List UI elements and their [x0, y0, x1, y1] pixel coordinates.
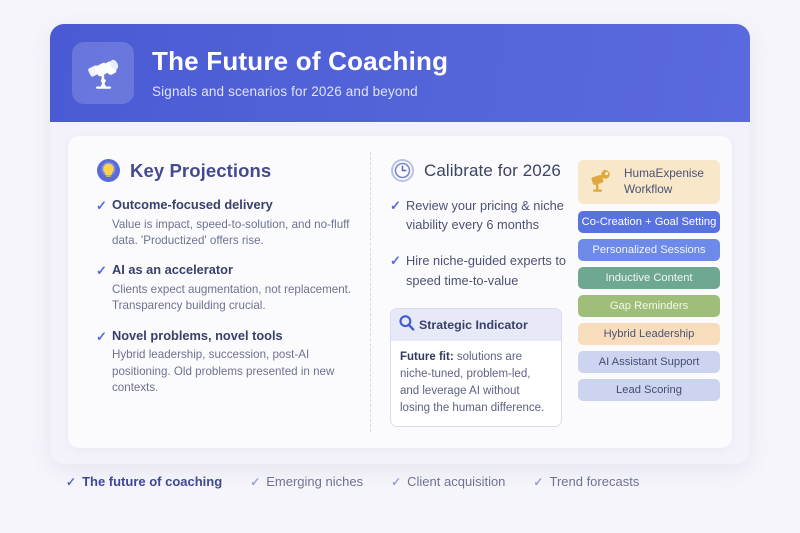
workflow-header: HumaExpenise Workflow — [578, 160, 720, 204]
footer-tabs: ✓ The future of coaching ✓ Emerging nich… — [0, 474, 800, 489]
footer-tab-trend-forecasts[interactable]: ✓ Trend forecasts — [533, 474, 639, 489]
key-projections-heading: Key Projections — [96, 158, 356, 183]
footer-tab-label: Client acquisition — [407, 474, 505, 489]
check-icon: ✓ — [96, 196, 112, 258]
workflow-panel: HumaExpenise Workflow Co-Creation + Goal… — [568, 158, 720, 448]
calibrate-item-text: Hire niche-guided experts to speed time-… — [406, 251, 568, 289]
key-projections-column: Key Projections ✓ Outcome-focused delive… — [68, 136, 370, 448]
key-projections-title: Key Projections — [130, 160, 271, 182]
workflow-chip[interactable]: Gap Reminders — [578, 295, 720, 317]
footer-tab-label: Emerging niches — [266, 474, 363, 489]
projection-title: AI as an accelerator — [112, 261, 356, 280]
footer-tab-label: The future of coaching — [82, 474, 222, 489]
workflow-chip[interactable]: Inductive Content — [578, 267, 720, 289]
calibrate-title: Calibrate for 2026 — [424, 161, 561, 181]
footer-tab-client-acquisition[interactable]: ✓ Client acquisition — [391, 474, 505, 489]
footer-tab-emerging-niches[interactable]: ✓ Emerging niches — [250, 474, 363, 489]
header-text-group: The Future of Coaching Signals and scena… — [152, 47, 448, 99]
projection-title: Novel problems, novel tools — [112, 327, 356, 346]
check-icon: ✓ — [390, 196, 406, 248]
page-title: The Future of Coaching — [152, 47, 448, 77]
strategic-indicator-box: Strategic Indicator Future fit: solution… — [390, 308, 562, 427]
list-item: ✓ Hire niche-guided experts to speed tim… — [390, 251, 568, 303]
slide-header: The Future of Coaching Signals and scena… — [50, 24, 750, 122]
calibrate-main: Calibrate for 2026 ✓ Review your pricing… — [390, 158, 568, 448]
column-divider — [370, 152, 371, 432]
workflow-chip[interactable]: Hybrid Leadership — [578, 323, 720, 345]
list-item: ✓ Novel problems, novel tools Hybrid lea… — [96, 327, 356, 406]
content-panel: Key Projections ✓ Outcome-focused delive… — [68, 136, 732, 448]
lightbulb-icon — [96, 158, 121, 183]
workflow-chip-label: Lead Scoring — [616, 384, 682, 396]
workflow-chip-label: Inductive Content — [605, 272, 692, 284]
workflow-chip-label: Gap Reminders — [610, 300, 688, 312]
projection-title: Outcome-focused delivery — [112, 196, 356, 215]
list-item: ✓ AI as an accelerator Clients expect au… — [96, 261, 356, 323]
check-icon: ✓ — [250, 475, 260, 489]
indicator-lead: Future fit: — [400, 351, 454, 363]
workflow-chip-label: Personalized Sessions — [592, 244, 705, 256]
strategic-indicator-header: Strategic Indicator — [391, 309, 561, 341]
calibrate-item-text: Review your pricing & niche viability ev… — [406, 196, 568, 234]
check-icon: ✓ — [96, 327, 112, 406]
workflow-header-line2: Workflow — [624, 182, 704, 198]
check-icon: ✓ — [533, 475, 543, 489]
workflow-header-text: HumaExpenise Workflow — [624, 166, 704, 197]
slide-card: The Future of Coaching Signals and scena… — [50, 24, 750, 464]
workflow-chip-label: AI Assistant Support — [599, 356, 700, 368]
projection-desc: Hybrid leadership, succession, post-AI p… — [112, 347, 356, 396]
workflow-chip[interactable]: Personalized Sessions — [578, 239, 720, 261]
workflow-robot-icon — [586, 165, 616, 200]
check-icon: ✓ — [96, 261, 112, 323]
list-item: ✓ Outcome-focused delivery Value is impa… — [96, 196, 356, 258]
strategic-indicator-body: Future fit: solutions are niche-tuned, p… — [391, 341, 561, 426]
projection-desc: Clients expect augmentation, not replace… — [112, 282, 356, 315]
check-icon: ✓ — [66, 475, 76, 489]
workflow-chip[interactable]: Lead Scoring — [578, 379, 720, 401]
workflow-chip-label: Hybrid Leadership — [604, 328, 695, 340]
footer-tab-label: Trend forecasts — [549, 474, 639, 489]
clock-icon — [390, 158, 415, 183]
page-subtitle: Signals and scenarios for 2026 and beyon… — [152, 84, 448, 99]
list-item: ✓ Review your pricing & niche viability … — [390, 196, 568, 248]
workflow-chip[interactable]: AI Assistant Support — [578, 351, 720, 373]
projection-desc: Value is impact, speed-to-solution, and … — [112, 217, 356, 250]
workflow-chip-label: Co-Creation + Goal Setting — [582, 216, 717, 228]
footer-tab-the-future-of-coaching[interactable]: ✓ The future of coaching — [66, 474, 222, 489]
calibrate-heading: Calibrate for 2026 — [390, 158, 568, 183]
magnifier-icon — [398, 314, 415, 336]
check-icon: ✓ — [390, 251, 406, 303]
calibrate-column: Calibrate for 2026 ✓ Review your pricing… — [370, 136, 732, 448]
workflow-chip[interactable]: Co-Creation + Goal Setting — [578, 211, 720, 233]
check-icon: ✓ — [391, 475, 401, 489]
telescope-icon — [72, 42, 134, 104]
workflow-header-line1: HumaExpenise — [624, 166, 704, 182]
strategic-indicator-title: Strategic Indicator — [419, 318, 528, 332]
